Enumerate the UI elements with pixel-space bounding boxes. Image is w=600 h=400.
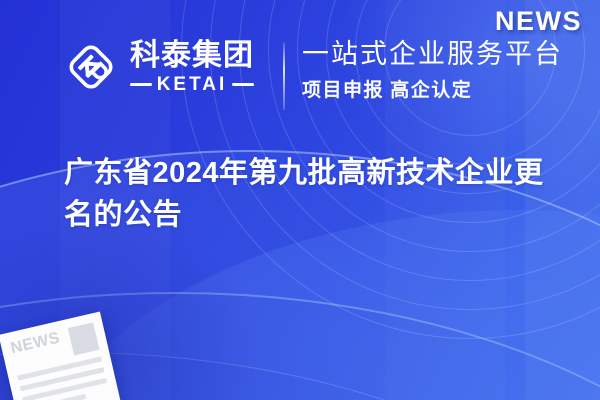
tagline-sub: 项目申报 高企认定 xyxy=(302,75,563,102)
wordmark-rule-right xyxy=(232,83,254,86)
page-title: 广东省2024年第九批高新技术企业更名的公告 xyxy=(64,152,564,236)
tagline-group: 一站式企业服务平台 项目申报 高企认定 xyxy=(302,38,563,102)
brand-name-en-row: KETAI xyxy=(130,75,254,94)
newspaper-illustration: NEWS xyxy=(0,312,121,400)
tagline-main: 一站式企业服务平台 xyxy=(302,38,563,70)
news-banner: 科泰集团 KETAI 一站式企业服务平台 项目申报 高企认定 NEWS 广东省2… xyxy=(0,0,600,400)
brand-lockup[interactable]: 科泰集团 KETAI xyxy=(62,38,254,96)
banner-header: 科泰集团 KETAI 一站式企业服务平台 项目申报 高企认定 NEWS xyxy=(0,0,600,130)
brand-wordmark: 科泰集团 KETAI xyxy=(130,40,254,94)
brand-name-cn: 科泰集团 xyxy=(130,40,254,72)
newspaper-masthead: NEWS xyxy=(9,330,61,357)
image-placeholder-block xyxy=(68,322,100,355)
brand-name-en: KETAI xyxy=(157,75,228,94)
header-divider xyxy=(283,42,285,110)
wordmark-rule-left xyxy=(130,83,152,86)
ketai-diamond-kt-monogram-icon xyxy=(62,38,120,96)
news-label: NEWS xyxy=(495,6,582,37)
